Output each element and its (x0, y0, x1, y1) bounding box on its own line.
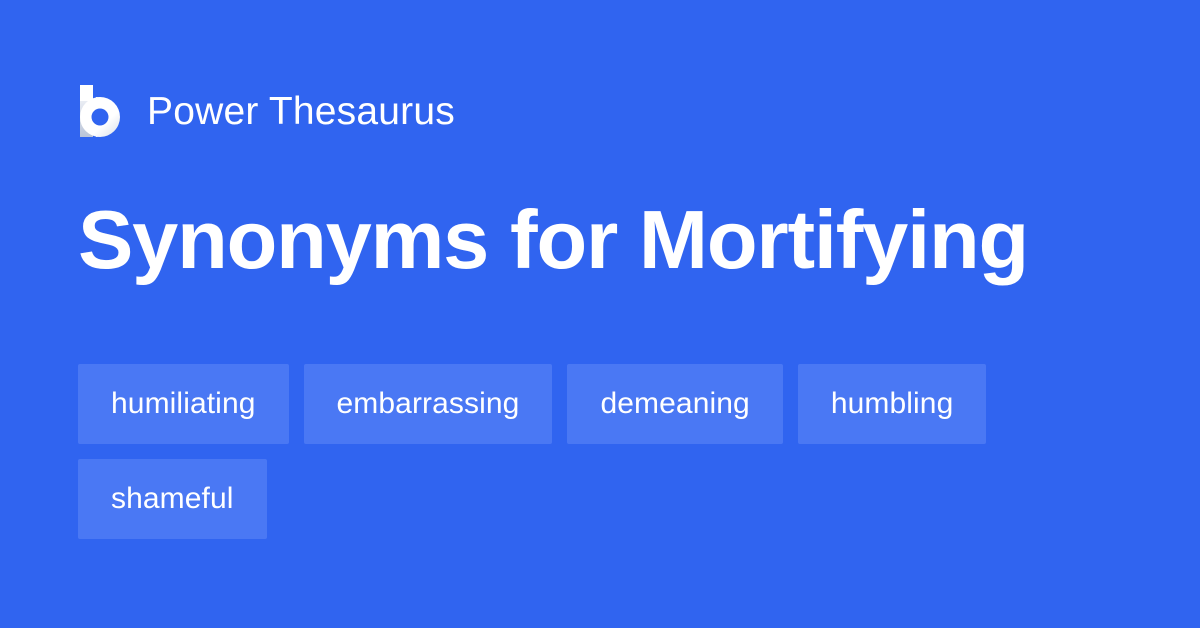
synonym-chip[interactable]: shameful (78, 459, 267, 539)
synonym-chip[interactable]: humbling (798, 364, 987, 444)
page-title: Synonyms for Mortifying (78, 196, 1028, 283)
synonym-chip[interactable]: embarrassing (304, 364, 553, 444)
brand-name: Power Thesaurus (147, 92, 455, 131)
synonym-chip[interactable]: demeaning (567, 364, 782, 444)
synonym-chip[interactable]: humiliating (78, 364, 289, 444)
share-card: Power Thesaurus Synonyms for Mortifying … (0, 0, 1200, 628)
brand-lockup[interactable]: Power Thesaurus (80, 83, 455, 139)
power-thesaurus-b-logo-icon (80, 85, 122, 137)
synonym-chip-list: humiliating embarrassing demeaning humbl… (78, 364, 1126, 539)
